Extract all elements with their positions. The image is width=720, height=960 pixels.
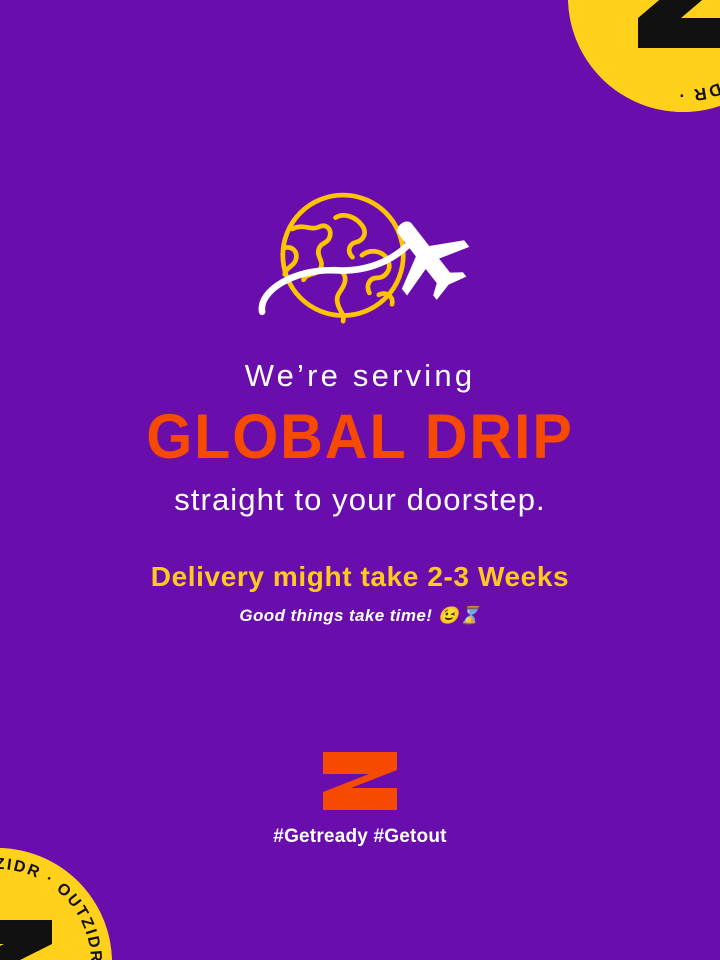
headline-text: GLOBAL DRIP: [22, 402, 699, 473]
subhead-text: straight to your doorstep.: [0, 484, 720, 517]
delivery-notice-text: Delivery might take 2-3 Weeks: [0, 562, 720, 591]
poster-copy: We’re serving GLOBAL DRIP straight to yo…: [0, 360, 720, 625]
eyebrow-text: We’re serving: [0, 360, 720, 393]
brand-badge-top-right: OUTZIDR · OUTZIDR · OUTZIDR · OUTZIDR ·: [568, 0, 720, 112]
globe-airplane-icon: [230, 180, 490, 340]
z-logo-icon: [321, 750, 399, 812]
hashtags-text: #Getready #Getout: [0, 826, 720, 848]
reassurance-text: Good things take time! 😉⌛: [0, 607, 720, 625]
promo-poster: OUTZIDR · OUTZIDR · OUTZIDR · OUTZIDR · …: [0, 0, 720, 960]
brand-badge-bottom-left: OUTZIDR · OUTZIDR · OUTZIDR · OUTZIDR · …: [0, 848, 112, 960]
poster-footer: #Getready #Getout: [0, 750, 720, 848]
